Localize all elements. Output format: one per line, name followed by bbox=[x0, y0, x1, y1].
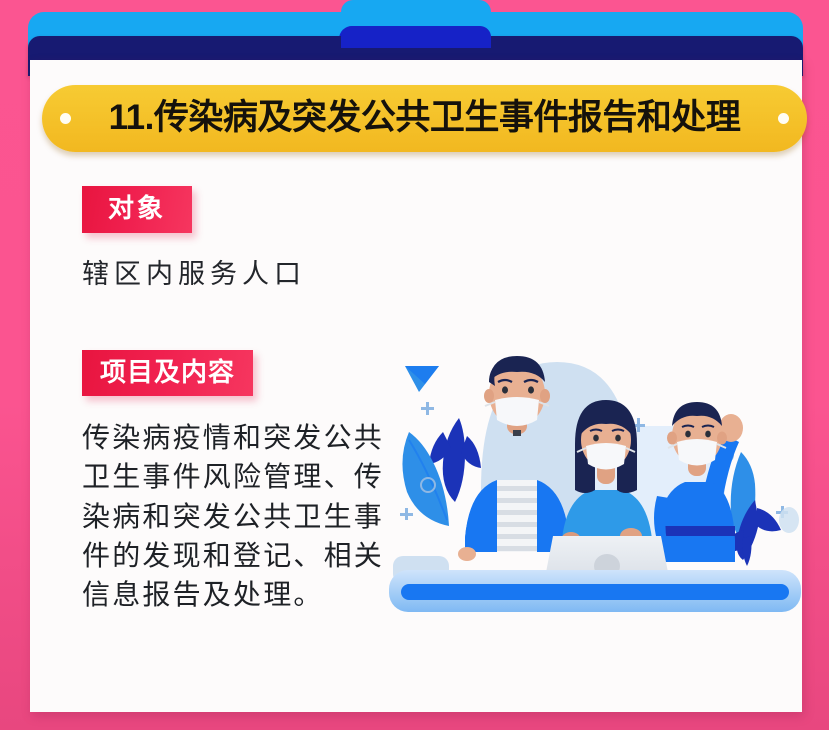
pill-dot-left-icon bbox=[60, 113, 71, 124]
content-column: 对象 辖区内服务人口 项目及内容 传染病疫情和突发公共卫生事件风险管理、传染病和… bbox=[82, 186, 412, 614]
white-face-mask bbox=[586, 443, 626, 470]
leaf-plant-left-icon bbox=[402, 418, 481, 526]
section-label-items: 项目及内容 bbox=[82, 350, 253, 397]
section-label-object: 对象 bbox=[82, 186, 192, 233]
white-face-mask bbox=[677, 439, 717, 466]
triangle-icon bbox=[405, 366, 439, 392]
title-pill-banner: 11.传染病及突发公共卫生事件报告和处理 bbox=[42, 85, 807, 152]
poster-root: 11.传染病及突发公共卫生事件报告和处理 对象 辖区内服务人口 项目及内容 传染… bbox=[0, 0, 829, 730]
section-text-object: 辖区内服务人口 bbox=[82, 257, 412, 292]
illustration-healthcare-team bbox=[385, 340, 803, 620]
blue-desk-bar bbox=[389, 570, 801, 612]
page-title: 11.传染病及突发公共卫生事件报告和处理 bbox=[71, 100, 778, 135]
section-items: 项目及内容 传染病疫情和突发公共卫生事件风险管理、传染病和突发公共卫生事件的发现… bbox=[82, 350, 412, 615]
section-text-items: 传染病疫情和突发公共卫生事件风险管理、传染病和突发公共卫生事件的发现和登记、相关… bbox=[82, 418, 384, 614]
white-face-mask bbox=[495, 397, 539, 426]
section-object: 对象 辖区内服务人口 bbox=[82, 186, 412, 292]
pill-dot-right-icon bbox=[778, 113, 789, 124]
